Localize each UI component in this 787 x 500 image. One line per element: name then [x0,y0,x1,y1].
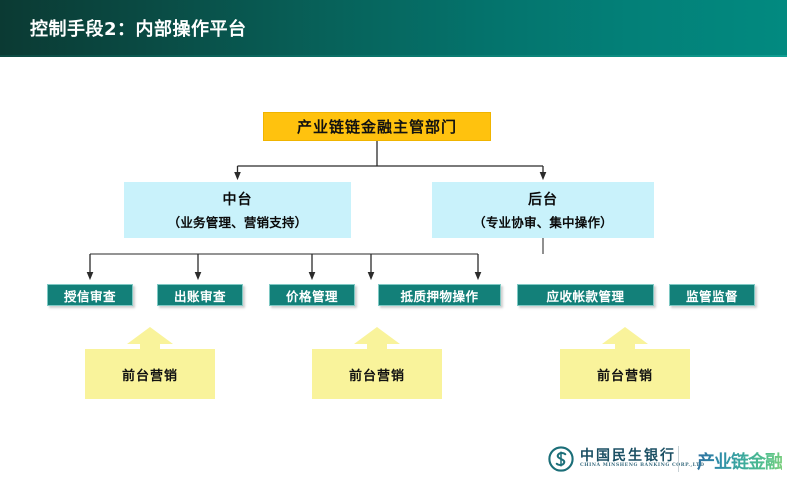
node-back-office-subtitle: （专业协审、集中操作） [473,212,613,231]
node-middle-office[interactable]: 中台 （业务管理、营销支持） [124,182,351,238]
bank-name-cn: 中国民生银行 [580,449,705,464]
node-price-management[interactable]: 价格管理 [269,284,355,306]
node-front-office-marketing-3-label: 前台营销 [560,349,690,399]
org-chart-diagram: 产业链链金融主管部门 中台 （业务管理、营销支持） 后台 （专业协审、集中操作）… [0,55,787,435]
up-arrow-icon [602,327,648,351]
bank-name-en: CHINA MINSHENG BANKING CORP.,LTD [580,463,705,469]
node-collateral-operations[interactable]: 抵质押物操作 [378,284,501,306]
node-credit-review[interactable]: 授信审查 [47,284,133,306]
node-back-office[interactable]: 后台 （专业协审、集中操作） [432,182,654,238]
minsheng-circle-s-icon [548,446,574,472]
node-back-office-title: 后台 [528,189,558,209]
node-front-office-marketing-1-label: 前台营销 [85,349,215,399]
node-receivables-management[interactable]: 应收帐款管理 [517,284,654,306]
logo-divider [678,446,679,472]
node-supervision[interactable]: 监管监督 [669,284,755,306]
node-middle-office-title: 中台 [223,189,253,209]
up-arrow-icon [354,327,400,351]
minsheng-bank-logo: 中国民生银行 CHINA MINSHENG BANKING CORP.,LTD [548,446,705,472]
node-front-office-marketing-3[interactable]: 前台营销 [560,327,690,399]
node-disbursement-review[interactable]: 出账审查 [157,284,243,306]
minsheng-wordmark: 中国民生银行 CHINA MINSHENG BANKING CORP.,LTD [580,449,705,470]
node-front-office-marketing-2-label: 前台营销 [312,349,442,399]
up-arrow-icon [127,327,173,351]
footer: 中国民生银行 CHINA MINSHENG BANKING CORP.,LTD … [0,435,787,500]
node-top-department[interactable]: 产业链链金融主管部门 [263,112,491,141]
node-front-office-marketing-2[interactable]: 前台营销 [312,327,442,399]
supply-chain-finance-logo: 产业链金融 [697,448,782,474]
node-front-office-marketing-1[interactable]: 前台营销 [85,327,215,399]
node-middle-office-subtitle: （业务管理、营销支持） [168,212,308,231]
page-title: 控制手段2：内部操作平台 [30,15,247,41]
